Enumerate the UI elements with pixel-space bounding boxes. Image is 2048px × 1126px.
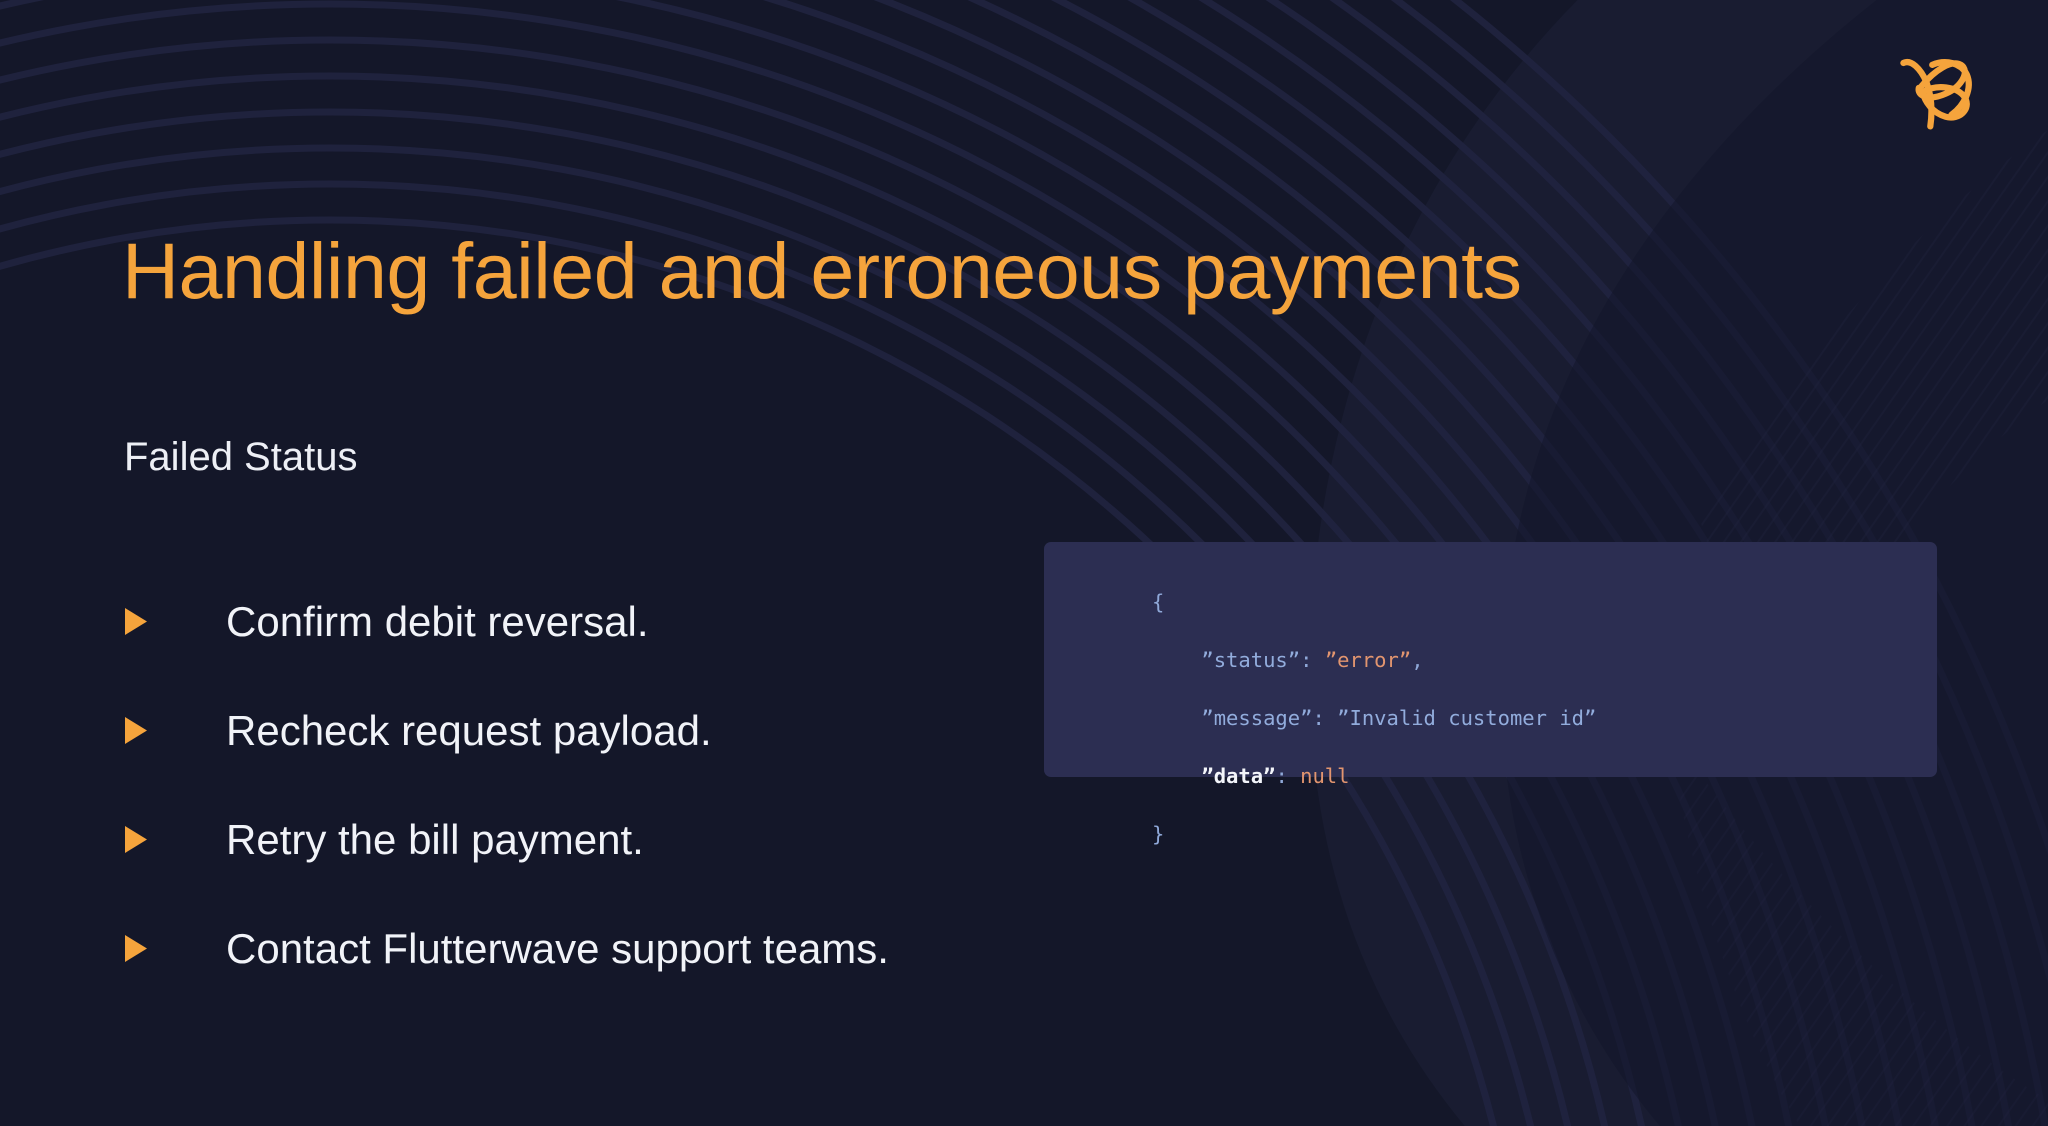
- code-indent: [1152, 648, 1201, 672]
- bullet-item: Contact Flutterwave support teams.: [124, 894, 984, 1003]
- code-indent: [1152, 764, 1201, 788]
- code-indent: [1152, 706, 1201, 730]
- code-token: :: [1300, 648, 1325, 672]
- slide-title: Handling failed and erroneous payments: [122, 231, 1522, 310]
- code-token: ”message”: [1201, 706, 1312, 730]
- bullet-item-label: Retry the bill payment.: [226, 819, 644, 861]
- bullet-item: Recheck request payload.: [124, 676, 984, 785]
- code-token: :: [1275, 764, 1300, 788]
- triangle-right-icon: [124, 607, 148, 636]
- code-token: ”Invalid customer id”: [1337, 706, 1596, 730]
- bullet-item: Retry the bill payment.: [124, 785, 984, 894]
- presentation-slide: Handling failed and erroneous payments F…: [0, 0, 2048, 1126]
- code-token: :: [1312, 706, 1337, 730]
- code-token: }: [1152, 822, 1164, 846]
- code-line: {: [1152, 588, 1596, 617]
- triangle-right-icon: [124, 825, 148, 854]
- code-token: ”error”: [1325, 648, 1411, 672]
- code-token: {: [1152, 590, 1164, 614]
- bullet-item-label: Confirm debit reversal.: [226, 601, 648, 643]
- bullet-item-label: Recheck request payload.: [226, 710, 712, 752]
- json-code-block: { ”status”: ”error”, ”message”: ”Invalid…: [1152, 588, 1596, 849]
- code-token: ”status”: [1201, 648, 1300, 672]
- triangle-right-icon: [124, 716, 148, 745]
- bullet-item: Confirm debit reversal.: [124, 567, 984, 676]
- code-line: }: [1152, 820, 1596, 849]
- flutterwave-logo-icon: [1890, 38, 1986, 134]
- code-token: ”data”: [1201, 764, 1275, 788]
- code-token: null: [1300, 764, 1349, 788]
- bullet-item-label: Contact Flutterwave support teams.: [226, 928, 889, 970]
- code-line: ”data”: null: [1152, 762, 1596, 791]
- triangle-right-icon: [124, 934, 148, 963]
- code-token: ,: [1411, 648, 1423, 672]
- code-panel: { ”status”: ”error”, ”message”: ”Invalid…: [1044, 542, 1937, 777]
- code-line: ”status”: ”error”,: [1152, 646, 1596, 675]
- section-subtitle: Failed Status: [124, 437, 357, 477]
- code-line: ”message”: ”Invalid customer id”: [1152, 704, 1596, 733]
- bullet-list: Confirm debit reversal.Recheck request p…: [124, 567, 984, 1003]
